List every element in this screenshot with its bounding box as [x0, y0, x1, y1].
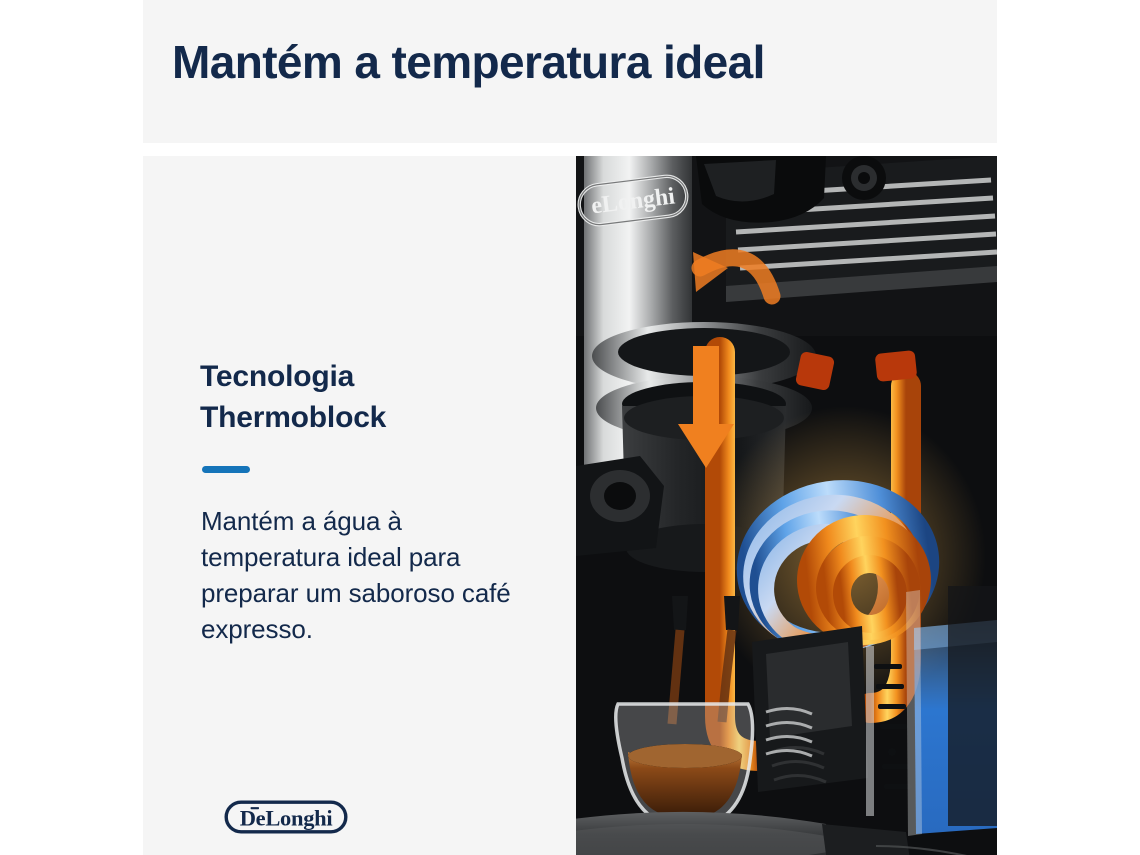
feature-description: Mantém a água à temperatura ideal para p… [201, 504, 513, 648]
header-band: Mantém a temperatura ideal [143, 0, 997, 143]
accent-rule [202, 466, 250, 473]
product-image: eLonghi [576, 156, 997, 855]
feature-text-column: Tecnologia Thermoblock Mantém a água à t… [200, 156, 530, 855]
page-title: Mantém a temperatura ideal [172, 36, 765, 89]
delonghi-logo: DeLonghi [224, 797, 348, 837]
content-band: Tecnologia Thermoblock Mantém a água à t… [143, 156, 997, 855]
marketing-card: Mantém a temperatura ideal Tecnologia Th… [0, 0, 1140, 855]
feature-heading: Tecnologia Thermoblock [200, 356, 500, 439]
